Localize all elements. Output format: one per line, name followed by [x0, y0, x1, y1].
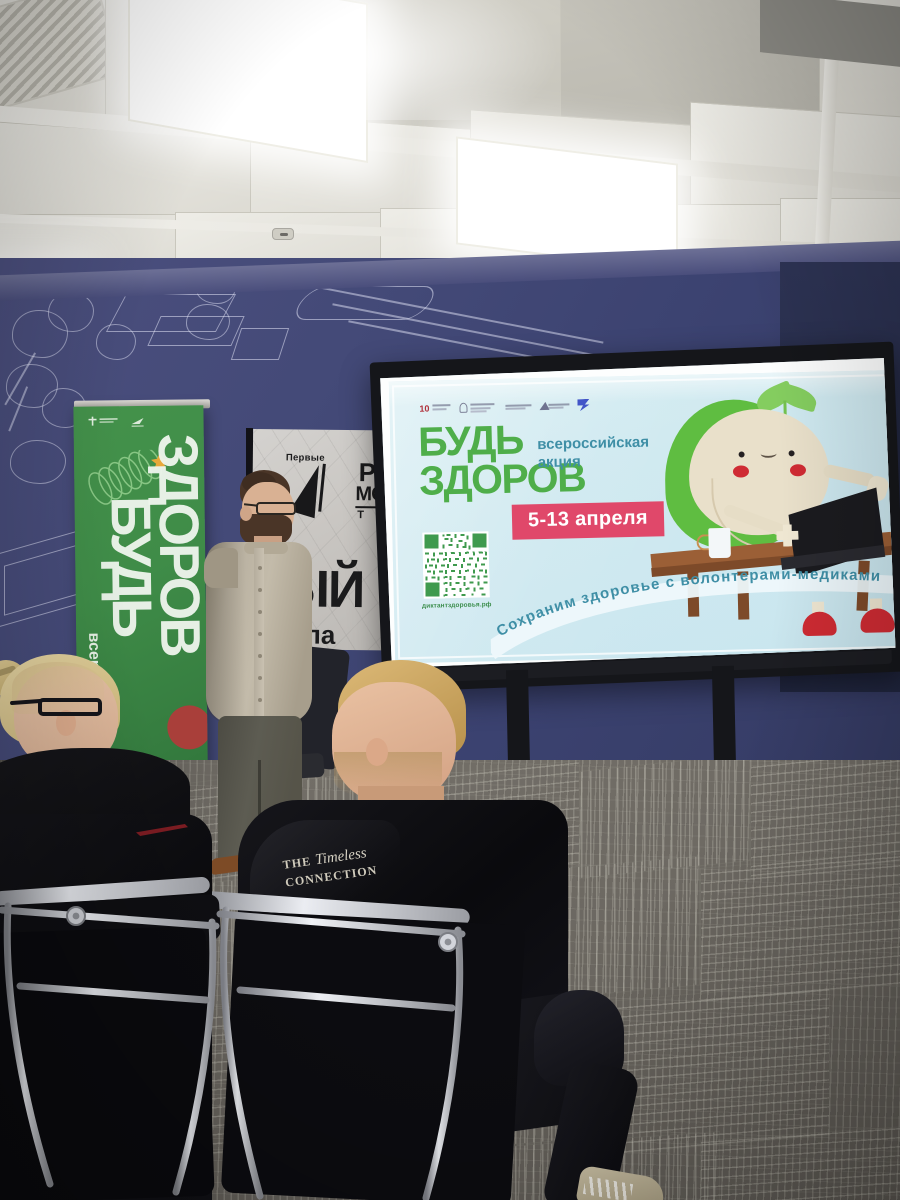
presenter-glasses: [256, 502, 296, 515]
volunteers-medics-logo: 10: [419, 402, 451, 416]
mascot-stem: [783, 400, 786, 414]
campaign-slide: 10: [389, 370, 896, 663]
mural-building: [231, 328, 289, 360]
ministry-health-logo: [459, 401, 495, 415]
partner-logo-3: [505, 400, 533, 414]
wall-display[interactable]: 10: [370, 342, 900, 693]
chair2-chrome-frame: [196, 890, 496, 1200]
display-screen[interactable]: 10: [380, 358, 895, 668]
shirt-button: [258, 610, 262, 614]
slide-subtitle-line2: акция: [538, 451, 650, 471]
person1-glasses: [38, 698, 102, 716]
slide-subtitle: всероссийская акция: [537, 434, 650, 472]
presenter-shoulder: [204, 548, 238, 588]
slide-subtitle-line1: всероссийская: [537, 434, 649, 454]
shirt-button: [258, 632, 262, 636]
mural-roadway: [289, 286, 442, 320]
slide-date-badge: 5-13 апреля: [512, 501, 665, 539]
photo-scene: ЛОДЕЖНЫ Первые РО МОЯ Т В НЫЙ обла: [0, 0, 900, 1200]
shirt-button: [258, 566, 262, 570]
mug-icon: [708, 528, 731, 558]
banner-logos: [85, 416, 165, 433]
rollup-title-line1: БУДЬ: [98, 496, 165, 636]
presenter-collar: [244, 542, 288, 554]
shirt-button: [258, 588, 262, 592]
rosmolodezh-logo: [577, 399, 591, 412]
shirt-button: [258, 654, 262, 658]
partner-logo-4: [539, 399, 569, 413]
slide-ribbon: Сохраним здоровье с волонтерами-медиками: [489, 556, 895, 662]
qr-code-icon: [422, 531, 489, 598]
presenter-ear: [240, 506, 252, 521]
carpet-tile: [700, 848, 900, 1002]
light-bloom: [120, 0, 560, 120]
mascot-leaf-icon: [775, 382, 819, 413]
mural-building: [147, 316, 244, 346]
mural-tree: [10, 440, 66, 484]
mural-line: [332, 303, 607, 358]
smoke-detector-icon: [272, 228, 294, 240]
slide-ribbon-svg: Сохраним здоровье с волонтерами-медиками: [489, 556, 895, 662]
qr-code[interactable]: [422, 531, 489, 598]
tshirt-print-prefix: THE: [282, 854, 312, 872]
person2-ear: [366, 738, 388, 766]
